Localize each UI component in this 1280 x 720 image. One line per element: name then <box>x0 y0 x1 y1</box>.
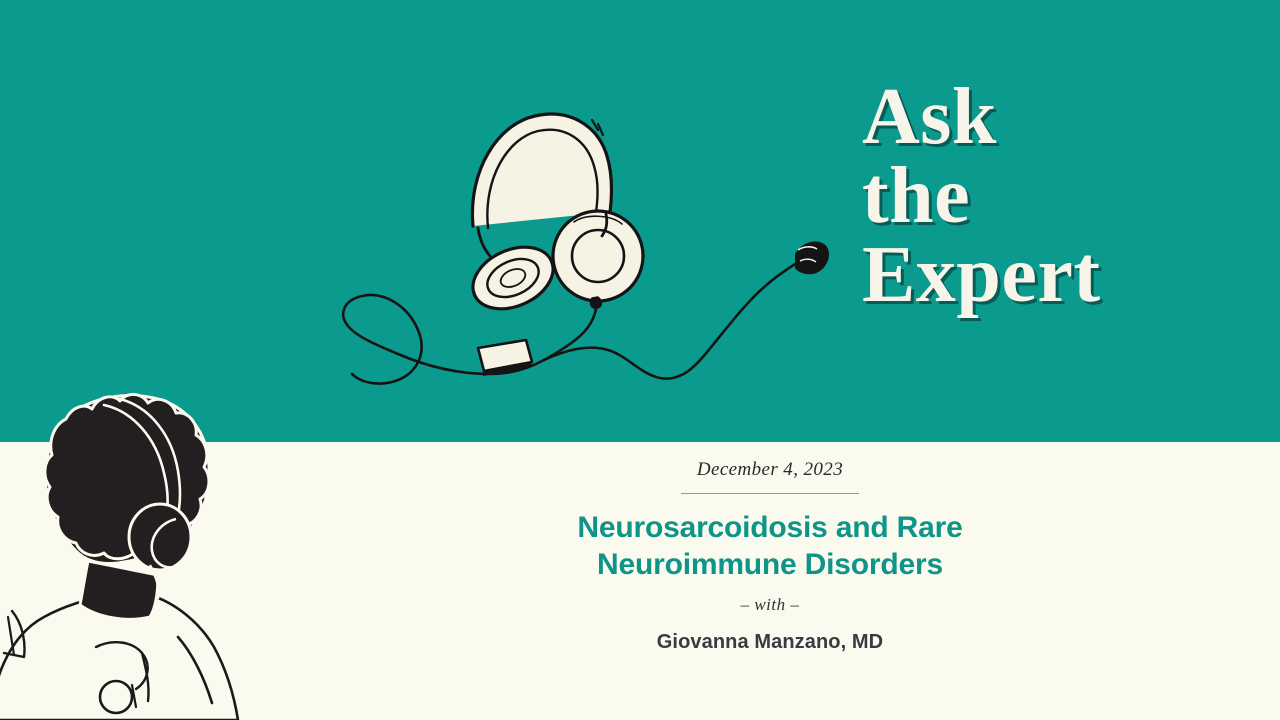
headphones-icon <box>330 78 840 398</box>
talk-title-line-1: Neurosarcoidosis and Rare <box>260 510 1280 547</box>
earbud-icon <box>796 242 828 273</box>
person-with-headphones-icon <box>0 385 270 720</box>
talk-title: Neurosarcoidosis and Rare Neuroimmune Di… <box>260 510 1280 583</box>
event-info-block: December 4, 2023 Neurosarcoidosis and Ra… <box>260 460 1280 654</box>
slide-canvas: Ask the Expert <box>0 0 1280 720</box>
divider-rule <box>681 493 859 494</box>
hero-title-line-2: the <box>862 157 1162 236</box>
hero-title-line-3: Expert <box>862 236 1162 315</box>
cord-remote-icon <box>478 340 532 376</box>
speaker-name: Giovanna Manzano, MD <box>260 631 1280 654</box>
hero-title-line-1: Ask <box>862 78 1162 157</box>
hero-title: Ask the Expert <box>862 78 1162 316</box>
headphones-illustration <box>330 78 840 398</box>
event-date: December 4, 2023 <box>260 460 1280 479</box>
with-label: – with – <box>260 595 1280 615</box>
listener-silhouette-illustration <box>0 385 270 720</box>
talk-title-line-2: Neuroimmune Disorders <box>260 547 1280 584</box>
